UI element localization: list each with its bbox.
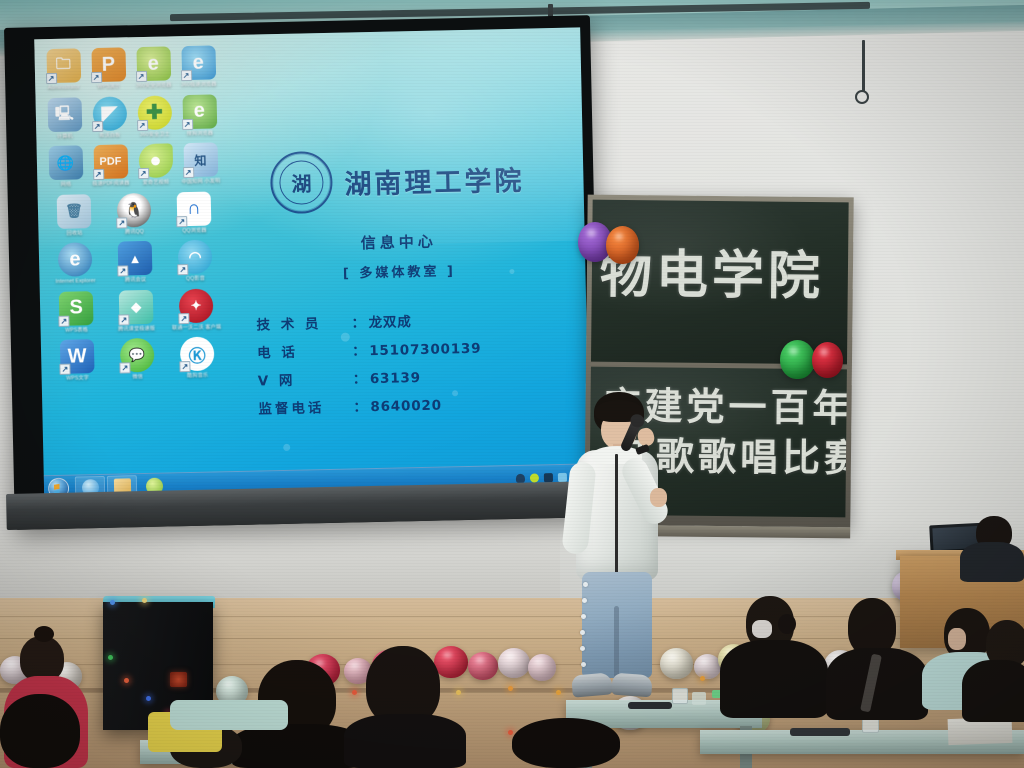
branding-header: 湖 湖南理工学院 bbox=[217, 146, 578, 216]
jeans-snap-button bbox=[582, 598, 587, 603]
notification-icon[interactable] bbox=[516, 474, 525, 483]
desktop-icon-label: Administrator bbox=[41, 84, 86, 91]
wechat-icon: 💬↗ bbox=[120, 338, 155, 373]
string-light-on-speaker bbox=[146, 696, 151, 701]
icon-row-1: 🗀↗ Administrator P↗ WPS演示 e↗ 360安全浏览器 e↗ bbox=[40, 39, 221, 91]
cnki-icon: 知↗ bbox=[183, 142, 218, 177]
multimedia-classroom-label: [ 多媒体教室 ] bbox=[219, 258, 579, 285]
desktop-icon[interactable]: W↗ WPS文字 bbox=[47, 333, 108, 383]
desktop-icon[interactable]: PDF↗ 极速PDF阅读器 bbox=[87, 138, 133, 187]
contact-colon: ： bbox=[351, 311, 366, 331]
speaker-indicator-light bbox=[170, 672, 187, 687]
icon-row-3: 🌐 网络 PDF↗ 极速PDF阅读器 ●↗ 爱奇艺视频 知↗ 中国知网 小发明 bbox=[42, 136, 223, 188]
wps-spreadsheet-icon: S↗ bbox=[59, 291, 94, 326]
desktop-icon[interactable]: 🌐 网络 bbox=[42, 139, 88, 188]
desk-items-small bbox=[628, 702, 672, 709]
audience-head bbox=[512, 718, 620, 768]
balloon-floor bbox=[498, 648, 530, 678]
desktop-icon-grid: 🗀↗ Administrator P↗ WPS演示 e↗ 360安全浏览器 e↗ bbox=[40, 39, 227, 382]
contact-info-block: 技 术 员 ： 龙双成 电 话 ： 15107300139 V 网 ： 6313… bbox=[220, 306, 582, 418]
classroom-scene: 🗀↗ Administrator P↗ WPS演示 e↗ 360安全浏览器 e↗ bbox=[0, 0, 1024, 768]
desktop-icon[interactable]: 🖳 计算机 bbox=[41, 91, 87, 140]
string-light bbox=[508, 730, 513, 735]
string-light-on-speaker bbox=[124, 678, 129, 683]
desktop-icon-label: 搜狗浏览器 bbox=[177, 130, 222, 137]
desktop-icon[interactable]: 💬↗ 微信 bbox=[107, 332, 168, 382]
iqiyi-icon: ●↗ bbox=[138, 143, 173, 178]
string-light bbox=[352, 690, 357, 695]
audience-body bbox=[720, 640, 828, 718]
string-light bbox=[700, 676, 705, 681]
audience-cloth bbox=[170, 700, 288, 730]
balloon-floor bbox=[468, 652, 498, 680]
desktop-icon[interactable]: ✦↗ 联通一沃二沃 客户端 bbox=[166, 282, 227, 332]
browser-360-speed-icon: e↗ bbox=[181, 45, 216, 80]
icon-row-2: 🖳 计算机 ◤↗ 希沃白板 ✚↗ 360安全卫士 e↗ 搜狗浏览器 bbox=[41, 88, 222, 140]
desktop-icon-label: 爱奇艺视频 bbox=[133, 179, 178, 186]
performer-left-hand bbox=[650, 488, 667, 507]
desktop-icon-label: 360极速浏览器 bbox=[176, 81, 221, 88]
security-icon[interactable] bbox=[530, 473, 539, 482]
contact-key: V 网 bbox=[258, 368, 350, 390]
face-mask bbox=[752, 620, 772, 638]
seal-character: 湖 bbox=[291, 168, 312, 197]
contact-row-supervision: 监督电话 ： 8640020 bbox=[258, 390, 582, 417]
desktop-icon[interactable]: ●↗ 爱奇艺视频 bbox=[132, 137, 178, 186]
audience-head bbox=[0, 694, 80, 768]
desktop-icon[interactable]: ◆↗ 腾讯课堂极速版 bbox=[106, 283, 167, 333]
audience-body bbox=[962, 660, 1024, 722]
desktop-icon[interactable]: ✚↗ 360安全卫士 bbox=[131, 89, 177, 138]
wps-presentation-icon: P↗ bbox=[91, 47, 126, 82]
desktop-icon-label: WPS演示 bbox=[86, 83, 131, 90]
jeans-snap-button bbox=[581, 614, 586, 619]
qq-browser-icon: ∩↗ bbox=[177, 191, 212, 226]
qq-player-icon: ◠↗ bbox=[178, 240, 213, 275]
contact-value: 8640020 bbox=[370, 398, 442, 416]
desktop-icon-label: 希沃白板 bbox=[87, 132, 132, 139]
security-360-icon: ✚↗ bbox=[137, 95, 172, 130]
desktop-icon-label: 网络 bbox=[43, 181, 88, 188]
seewo-icon: ◤↗ bbox=[92, 96, 127, 131]
desktop-icon-label: 360安全浏览器 bbox=[131, 82, 176, 89]
projected-desktop[interactable]: 🗀↗ Administrator P↗ WPS演示 e↗ 360安全浏览器 e↗ bbox=[34, 27, 590, 501]
balloon-orange bbox=[606, 226, 639, 264]
university-name: 湖南理工学院 bbox=[344, 158, 525, 201]
balloon-floor bbox=[528, 654, 556, 681]
information-center-label: 信息中心 bbox=[219, 228, 579, 257]
jeans-snap-button bbox=[580, 630, 585, 635]
desktop-icon[interactable]: S↗ WPS表格 bbox=[46, 284, 107, 334]
desktop-icon-label: 极速PDF阅读器 bbox=[88, 180, 133, 187]
desktop-icon[interactable]: 🐧↗ 腾讯QQ bbox=[104, 186, 165, 236]
contact-key: 电 话 bbox=[257, 340, 349, 362]
tencent-classroom-icon: ◆↗ bbox=[119, 289, 154, 324]
wps-writer-icon: W↗ bbox=[60, 339, 95, 374]
computer-icon: 🖳 bbox=[47, 97, 82, 132]
audience-hair-bun bbox=[778, 614, 796, 634]
contact-colon: ： bbox=[352, 367, 367, 387]
desktop-icon-label: 腾讯QQ bbox=[104, 228, 164, 236]
desktop-icon-label: 计算机 bbox=[42, 133, 87, 140]
recycle-bin-icon: 🗑 bbox=[57, 194, 92, 229]
desktop-icon[interactable]: 🗑 回收站 bbox=[44, 187, 105, 237]
desktop-icon[interactable]: ∩↗ QQ浏览器 bbox=[163, 185, 224, 235]
desktop-icon[interactable]: e↗ 搜狗浏览器 bbox=[176, 88, 222, 137]
desktop-icon[interactable]: P↗ WPS演示 bbox=[85, 41, 131, 90]
contact-value: 15107300139 bbox=[369, 341, 481, 359]
desktop-icon-label: QQ浏览器 bbox=[164, 227, 224, 235]
icon-row-6: S↗ WPS表格 ◆↗ 腾讯课堂极速版 ✦↗ 联通一沃二沃 客户端 bbox=[46, 282, 227, 334]
university-seal-icon: 湖 bbox=[270, 151, 333, 214]
string-light-on-speaker bbox=[110, 600, 115, 605]
jeans-snap-button bbox=[580, 646, 585, 651]
desktop-icon[interactable]: e Internet Explorer bbox=[45, 236, 106, 286]
volume-icon[interactable] bbox=[544, 473, 553, 482]
network-icon: 🌐 bbox=[48, 145, 83, 180]
desktop-icon-label: 360安全卫士 bbox=[132, 131, 177, 138]
desktop-icon[interactable]: ▲↗ 腾讯会议 bbox=[105, 235, 166, 285]
icon-row-5: e Internet Explorer ▲↗ 腾讯会议 ◠↗ QQ影音 bbox=[45, 233, 226, 285]
desk-cup-2 bbox=[692, 692, 706, 705]
desktop-icon-label: 腾讯课堂极速版 bbox=[107, 325, 167, 333]
performer-jacket-zipper bbox=[615, 454, 618, 576]
internet-explorer-icon: e bbox=[58, 242, 93, 277]
desktop-icon-label: WPS文字 bbox=[48, 375, 108, 383]
desktop-icon[interactable]: ◠↗ QQ影音 bbox=[165, 233, 226, 283]
desk-cup bbox=[672, 688, 688, 704]
contact-row-phone: 电 话 ： 15107300139 bbox=[257, 334, 581, 361]
folder-icon: 🗀↗ bbox=[46, 48, 81, 83]
contact-key: 技 术 员 bbox=[256, 312, 348, 334]
kugou-icon: Ⓚ↗ bbox=[180, 336, 215, 371]
contact-value: 63139 bbox=[370, 370, 421, 387]
string-light bbox=[508, 686, 513, 691]
balloon-red bbox=[812, 342, 843, 378]
icon-row-7: W↗ WPS文字 💬↗ 微信 Ⓚ↗ 酷狗音乐 bbox=[47, 330, 228, 382]
sogou-browser-icon: e↗ bbox=[182, 94, 217, 129]
balloon-floor bbox=[434, 646, 468, 678]
audience-body bbox=[344, 714, 466, 768]
desktop-icon-label: 酷狗音乐 bbox=[168, 372, 228, 380]
unicom-icon: ✦↗ bbox=[179, 288, 214, 323]
jeans-snap-button bbox=[581, 662, 586, 667]
projection-branding: 湖 湖南理工学院 信息中心 [ 多媒体教室 ] 技 术 员 ： 龙双成 电 话 … bbox=[217, 146, 583, 427]
ceiling-hook-2 bbox=[862, 40, 865, 92]
browser-360-icon: e↗ bbox=[136, 46, 171, 81]
qq-icon: 🐧↗ bbox=[117, 192, 152, 227]
string-light-on-speaker bbox=[142, 598, 147, 603]
contact-colon: ： bbox=[352, 339, 367, 359]
audience-hand bbox=[948, 628, 966, 650]
desktop-icon[interactable]: e↗ 360安全浏览器 bbox=[130, 40, 176, 89]
string-light-on-speaker bbox=[108, 655, 113, 660]
desktop-icon-label: 微信 bbox=[108, 374, 168, 382]
contact-row-technician: 技 术 员 ： 龙双成 bbox=[256, 306, 580, 333]
desktop-icon-label: WPS表格 bbox=[47, 326, 107, 334]
student-performer bbox=[556, 392, 676, 704]
balloon-green bbox=[780, 340, 815, 379]
desktop-icon[interactable]: Ⓚ↗ 酷狗音乐 bbox=[167, 330, 228, 380]
bokeh-3 bbox=[283, 444, 290, 451]
desktop-icon-label: 联通一沃二沃 客户端 bbox=[167, 324, 227, 332]
blackboard-top-panel: 物电学院 bbox=[591, 200, 849, 365]
projection-screen-frame: 🗀↗ Administrator P↗ WPS演示 e↗ 360安全浏览器 e↗ bbox=[4, 15, 601, 530]
jeans-snap-button bbox=[583, 582, 588, 587]
desktop-icon[interactable]: 🗀↗ Administrator bbox=[40, 42, 86, 91]
tencent-meeting-icon: ▲↗ bbox=[118, 241, 153, 276]
ceiling-hook-3 bbox=[855, 90, 869, 104]
string-light bbox=[456, 690, 461, 695]
teacher-body bbox=[960, 542, 1024, 582]
desktop-icon[interactable]: e↗ 360极速浏览器 bbox=[175, 39, 221, 88]
desk-items-right bbox=[790, 728, 850, 736]
desktop-icon-label: 腾讯会议 bbox=[105, 277, 165, 285]
desktop-icon-label: Internet Explorer bbox=[45, 278, 105, 286]
contact-key: 监督电话 bbox=[258, 396, 350, 418]
audience-hair-bun bbox=[34, 626, 54, 642]
contact-value: 龙双成 bbox=[368, 310, 411, 331]
desktop-icon-label: 回收站 bbox=[44, 229, 104, 237]
desktop-icon[interactable]: ◤↗ 希沃白板 bbox=[86, 90, 132, 139]
contact-colon: ： bbox=[353, 395, 368, 415]
performer-right-shoe bbox=[611, 673, 652, 698]
desktop-icon-label: QQ影音 bbox=[165, 275, 225, 283]
pdf-reader-icon: PDF↗ bbox=[93, 144, 128, 179]
performer-leg-separation bbox=[614, 606, 619, 678]
icon-row-4: 🗑 回收站 🐧↗ 腾讯QQ ∩↗ QQ浏览器 bbox=[44, 185, 225, 237]
contact-row-vnet: V 网 ： 63139 bbox=[258, 362, 582, 389]
performer-left-shoe bbox=[571, 672, 613, 697]
